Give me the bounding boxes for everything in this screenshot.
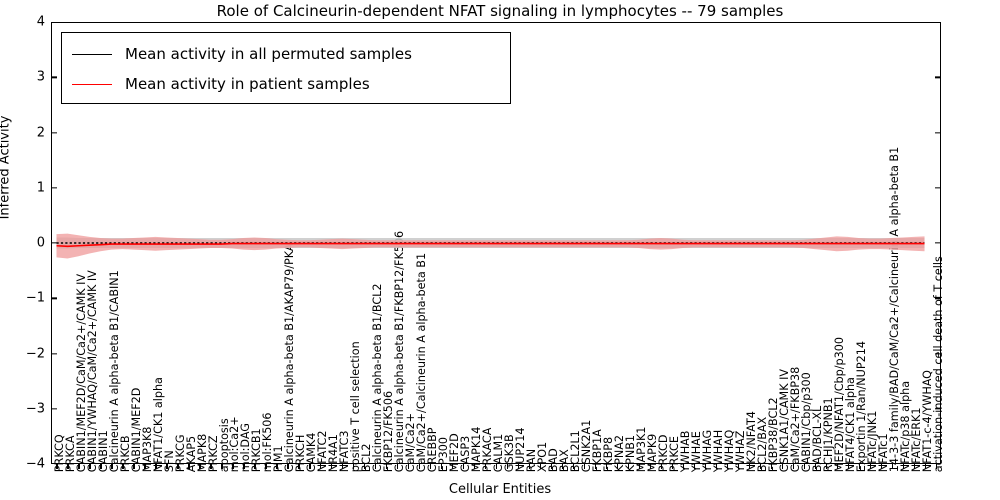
legend-label-permuted: Mean activity in all permuted samples [125,45,412,63]
legend-item-patient: Mean activity in patient samples [72,69,500,99]
y-tick-mark [51,77,57,78]
y-tick-mark [51,132,57,133]
y-tick-mark [935,187,941,188]
y-tick-mark [51,298,57,299]
legend-label-patient: Mean activity in patient samples [125,75,370,93]
y-tick-mark [51,408,57,409]
y-tick-label: −1 [0,291,45,306]
y-tick-mark [935,77,941,78]
chart-legend: Mean activity in all permuted samples Me… [61,32,511,104]
y-tick-mark [51,187,57,188]
y-tick-label: 0 [0,236,45,251]
x-tick-label: activation-induced cell death of T cells [933,256,944,472]
y-tick-label: 1 [0,180,45,195]
y-tick-mark [935,242,941,243]
legend-item-permuted: Mean activity in all permuted samples [72,39,500,69]
y-tick-label: −3 [0,401,45,416]
y-tick-label: −4 [0,457,45,472]
legend-line-red-icon [72,84,112,85]
y-tick-mark [935,132,941,133]
chart-title: Role of Calcineurin-dependent NFAT signa… [0,2,1000,20]
y-tick-mark [51,242,57,243]
y-tick-label: 3 [0,70,45,85]
y-tick-label: 4 [0,15,45,30]
chart-root: Role of Calcineurin-dependent NFAT signa… [0,0,1000,500]
y-tick-mark [51,353,57,354]
y-tick-label: −2 [0,346,45,361]
legend-line-black-icon [72,54,112,55]
x-axis-label: Cellular Entities [0,482,1000,497]
y-tick-label: 2 [0,125,45,140]
